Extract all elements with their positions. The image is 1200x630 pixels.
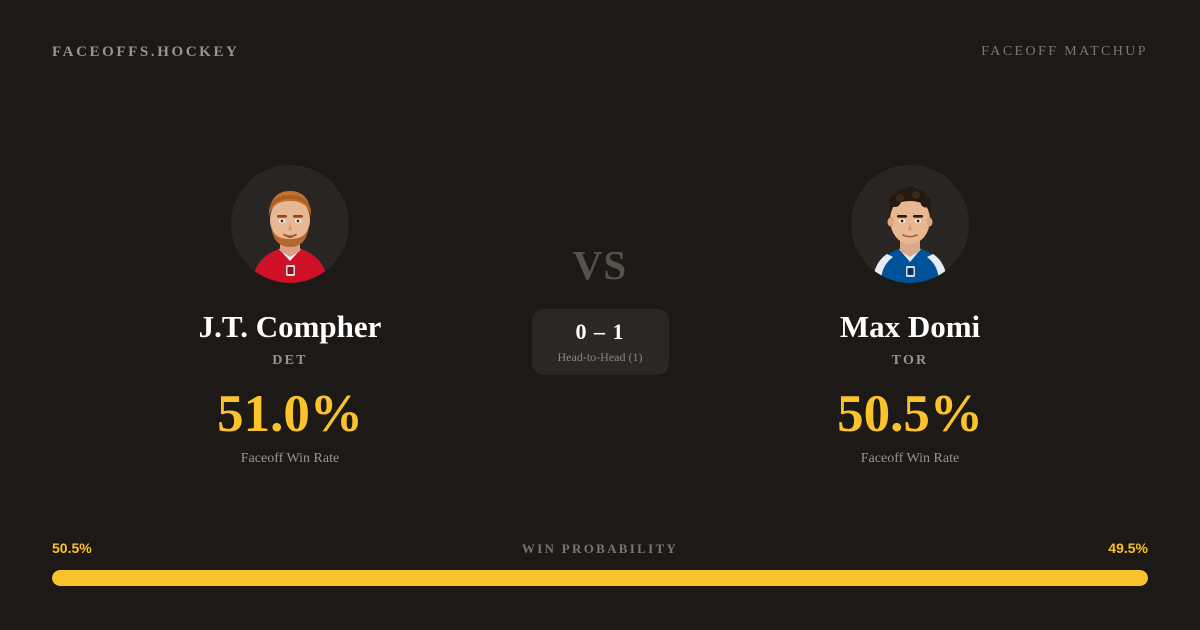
vs-section: VS 0 – 1 Head-to-Head (1) xyxy=(500,104,700,375)
player-stat-label-right: Faceoff Win Rate xyxy=(861,451,959,467)
player-card-right: Max Domi TOR 50.5% Faceoff Win Rate xyxy=(700,104,1120,467)
win-probability-track xyxy=(52,570,1148,586)
vs-label: VS xyxy=(573,245,627,286)
player-stat-value-left: 51.0% xyxy=(217,388,363,441)
avatar-left xyxy=(231,165,349,283)
player-name-left: J.T. Compher xyxy=(199,311,382,344)
head-to-head-score: 0 – 1 xyxy=(576,321,625,343)
header: FACEOFFS.HOCKEY FACEOFF MATCHUP xyxy=(0,0,1200,104)
win-probability-fill xyxy=(52,570,1148,586)
faceoff-matchup-card: FACEOFFS.HOCKEY FACEOFF MATCHUP xyxy=(0,0,1200,630)
head-to-head-card: 0 – 1 Head-to-Head (1) xyxy=(532,309,669,375)
win-probability-section: 50.5% WIN PROBABILITY 49.5% xyxy=(52,541,1148,586)
win-probability-labels: 50.5% WIN PROBABILITY 49.5% xyxy=(52,541,1148,555)
player-name-right: Max Domi xyxy=(840,311,980,344)
site-brand: FACEOFFS.HOCKEY xyxy=(52,44,239,61)
head-to-head-label: Head-to-Head (1) xyxy=(558,351,643,363)
avatar-right xyxy=(851,165,969,283)
win-probability-right-pct: 49.5% xyxy=(1108,541,1148,555)
matchup-section: J.T. Compher DET 51.0% Faceoff Win Rate … xyxy=(0,104,1200,504)
win-probability-title: WIN PROBABILITY xyxy=(522,542,678,555)
win-probability-left-pct: 50.5% xyxy=(52,541,92,555)
player-card-left: J.T. Compher DET 51.0% Faceoff Win Rate xyxy=(80,104,500,467)
header-tag: FACEOFF MATCHUP xyxy=(981,44,1148,60)
player-team-left: DET xyxy=(272,353,307,369)
player-stat-label-left: Faceoff Win Rate xyxy=(241,451,339,467)
player-stat-value-right: 50.5% xyxy=(837,388,983,441)
player-team-right: TOR xyxy=(892,353,929,369)
